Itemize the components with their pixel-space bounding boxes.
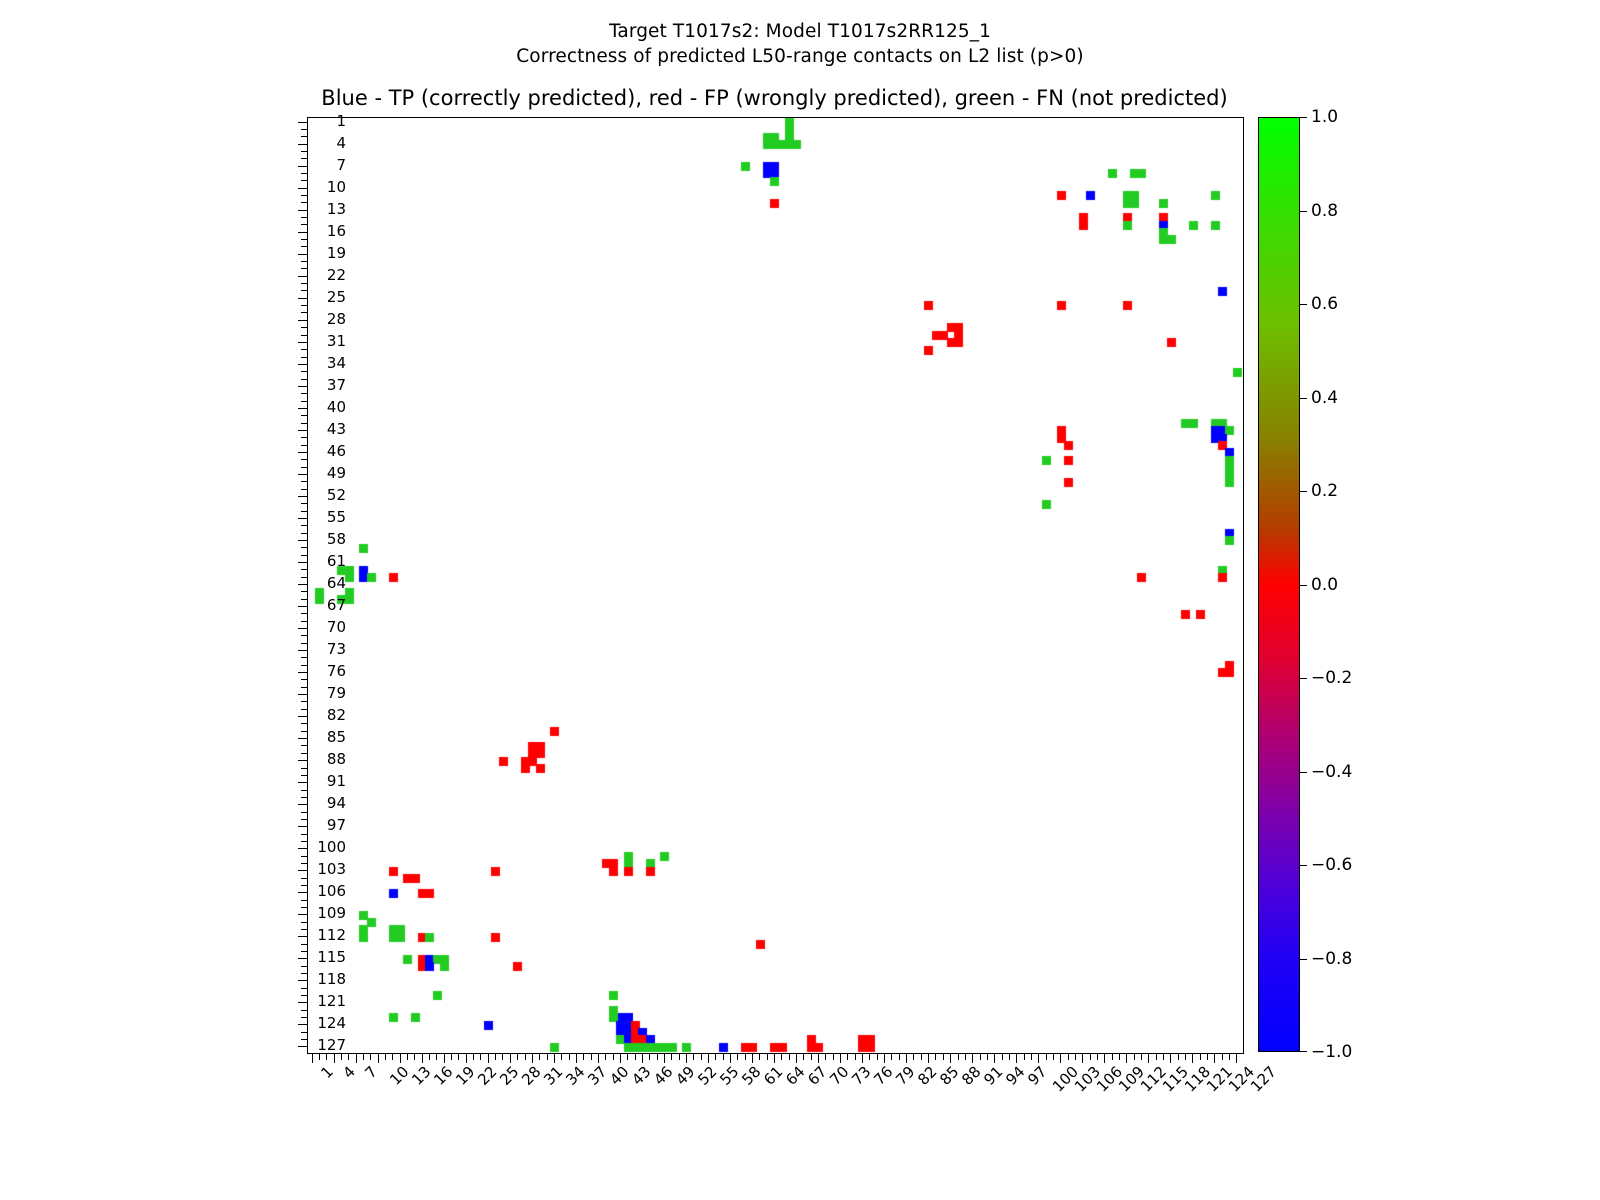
x-tick: [657, 1053, 658, 1060]
x-tick: [1031, 1053, 1032, 1060]
x-tick: [715, 1053, 716, 1060]
contact-map-canvas: [308, 118, 1243, 1053]
colorbar-gradient: [1258, 117, 1300, 1052]
x-tick: [1192, 1053, 1193, 1063]
y-tick: [301, 305, 308, 306]
y-tick: [301, 547, 308, 548]
y-tick: [301, 415, 308, 416]
y-tick: [301, 745, 308, 746]
x-tick: [972, 1053, 973, 1063]
y-tick-label: 73: [286, 642, 346, 657]
x-tick: [635, 1053, 636, 1060]
x-tick: [547, 1053, 548, 1060]
y-tick-label: 61: [286, 554, 346, 569]
x-tick: [1207, 1053, 1208, 1060]
colorbar-tick: [1300, 211, 1307, 212]
x-tick: [605, 1053, 606, 1060]
y-tick: [301, 613, 308, 614]
x-tick: [833, 1053, 834, 1060]
y-tick: [301, 988, 308, 989]
x-tick: [1097, 1053, 1098, 1060]
y-tick-label: 67: [286, 598, 346, 613]
y-tick-label: 28: [286, 312, 346, 327]
x-tick: [598, 1053, 599, 1063]
colorbar-tick-label: −0.2: [1311, 670, 1352, 687]
y-tick: [301, 657, 308, 658]
y-tick: [301, 679, 308, 680]
x-tick: [517, 1053, 518, 1060]
y-tick: [301, 966, 308, 967]
y-tick-label: 88: [286, 752, 346, 767]
y-tick-label: 34: [286, 356, 346, 371]
x-tick: [1134, 1053, 1135, 1060]
y-tick: [301, 790, 308, 791]
y-tick: [301, 1010, 308, 1011]
x-tick: [466, 1053, 467, 1063]
x-tick: [803, 1053, 804, 1060]
x-tick-label: 1: [318, 1064, 335, 1081]
y-tick-label: 112: [286, 928, 346, 943]
x-tick: [1148, 1053, 1149, 1063]
y-tick: [301, 195, 308, 196]
x-tick: [958, 1053, 959, 1060]
y-tick: [301, 591, 308, 592]
x-tick: [525, 1053, 526, 1060]
x-tick: [899, 1053, 900, 1060]
colorbar-tick-label: −0.6: [1311, 857, 1352, 874]
x-tick: [1185, 1053, 1186, 1060]
colorbar-tick: [1300, 117, 1307, 118]
x-tick: [554, 1053, 555, 1063]
x-tick: [1104, 1053, 1105, 1063]
x-tick: [429, 1053, 430, 1060]
y-tick-label: 115: [286, 950, 346, 965]
colorbar-tick-label: −0.8: [1311, 951, 1352, 968]
y-tick-label: 22: [286, 268, 346, 283]
y-tick-label: 79: [286, 686, 346, 701]
x-tick: [1053, 1053, 1054, 1060]
x-tick: [1009, 1053, 1010, 1060]
y-tick-label: 91: [286, 774, 346, 789]
y-tick: [301, 701, 308, 702]
x-tick: [1002, 1053, 1003, 1060]
y-tick: [301, 349, 308, 350]
x-tick: [825, 1053, 826, 1060]
x-tick: [1141, 1053, 1142, 1060]
x-tick: [767, 1053, 768, 1060]
y-tick-label: 25: [286, 290, 346, 305]
x-tick: [576, 1053, 577, 1063]
colorbar-tick-label: 0.0: [1311, 577, 1338, 594]
x-tick: [458, 1053, 459, 1060]
x-tick: [913, 1053, 914, 1060]
x-tick: [385, 1053, 386, 1060]
colorbar-tick: [1300, 865, 1307, 866]
y-tick-label: 82: [286, 708, 346, 723]
y-tick: [301, 812, 308, 813]
x-tick-label: 7: [362, 1064, 379, 1081]
x-tick: [921, 1053, 922, 1060]
x-tick: [1112, 1053, 1113, 1060]
x-tick: [752, 1053, 753, 1063]
x-tick: [943, 1053, 944, 1060]
x-tick: [561, 1053, 562, 1060]
y-tick-label: 13: [286, 202, 346, 217]
y-tick-label: 64: [286, 576, 346, 591]
y-tick: [301, 1032, 308, 1033]
x-tick: [774, 1053, 775, 1063]
x-tick-label: 97: [1026, 1064, 1050, 1088]
x-tick: [451, 1053, 452, 1060]
y-tick-label: 103: [286, 862, 346, 877]
x-tick: [1016, 1053, 1017, 1063]
x-tick: [326, 1053, 327, 1060]
figure-title-block: Target T1017s2: Model T1017s2RR125_1 Cor…: [0, 20, 1600, 70]
x-tick: [1163, 1053, 1164, 1060]
x-tick: [1236, 1053, 1237, 1063]
x-tick: [906, 1053, 907, 1063]
x-tick: [341, 1053, 342, 1060]
x-tick: [480, 1053, 481, 1060]
x-tick: [855, 1053, 856, 1060]
x-tick: [693, 1053, 694, 1060]
x-tick: [759, 1053, 760, 1060]
x-tick: [928, 1053, 929, 1063]
x-tick: [818, 1053, 819, 1063]
y-tick-label: 31: [286, 334, 346, 349]
x-tick: [1046, 1053, 1047, 1060]
y-tick: [301, 173, 308, 174]
colorbar-tick-label: 0.2: [1311, 483, 1338, 500]
y-tick: [301, 327, 308, 328]
y-tick: [301, 371, 308, 372]
x-tick: [488, 1053, 489, 1063]
y-tick: [301, 635, 308, 636]
y-tick-label: 97: [286, 818, 346, 833]
x-tick: [532, 1053, 533, 1063]
x-tick: [1222, 1053, 1223, 1060]
y-tick-label: 106: [286, 884, 346, 899]
x-tick: [473, 1053, 474, 1060]
x-tick: [334, 1053, 335, 1063]
x-tick: [847, 1053, 848, 1060]
x-tick: [1126, 1053, 1127, 1063]
x-tick: [1068, 1053, 1069, 1060]
y-tick-label: 127: [286, 1038, 346, 1053]
y-tick-label: 109: [286, 906, 346, 921]
x-tick: [378, 1053, 379, 1063]
y-tick-label: 16: [286, 224, 346, 239]
colorbar-tick-label: −1.0: [1311, 1044, 1352, 1061]
x-tick-label: 127: [1249, 1064, 1280, 1095]
x-tick: [642, 1053, 643, 1063]
x-tick: [730, 1053, 731, 1063]
x-tick: [495, 1053, 496, 1060]
y-tick: [301, 217, 308, 218]
x-tick: [950, 1053, 951, 1063]
x-tick: [708, 1053, 709, 1063]
x-tick: [539, 1053, 540, 1060]
x-tick: [407, 1053, 408, 1060]
y-tick: [301, 525, 308, 526]
y-tick-label: 4: [286, 136, 346, 151]
colorbar-tick-label: −0.4: [1311, 764, 1352, 781]
colorbar-tick: [1300, 398, 1307, 399]
x-tick: [745, 1053, 746, 1060]
contact-map-plot: [307, 117, 1244, 1054]
y-tick-label: 55: [286, 510, 346, 525]
x-tick: [1229, 1053, 1230, 1060]
figure-title-line-2: Correctness of predicted L50-range conta…: [0, 45, 1600, 70]
x-tick: [348, 1053, 349, 1060]
x-tick: [414, 1053, 415, 1060]
x-tick: [789, 1053, 790, 1060]
x-tick: [1024, 1053, 1025, 1060]
y-tick: [301, 878, 308, 879]
x-tick: [510, 1053, 511, 1063]
colorbar-tick: [1300, 678, 1307, 679]
y-tick: [301, 239, 308, 240]
x-tick: [987, 1053, 988, 1060]
axes-legend-title: Blue - TP (correctly predicted), red - F…: [307, 86, 1242, 110]
x-tick: [1038, 1053, 1039, 1063]
x-tick: [840, 1053, 841, 1063]
colorbar-tick-label: 1.0: [1311, 109, 1338, 126]
y-tick-label: 124: [286, 1016, 346, 1031]
figure-title-line-1: Target T1017s2: Model T1017s2RR125_1: [0, 20, 1600, 45]
x-tick: [422, 1053, 423, 1063]
colorbar-tick: [1300, 585, 1307, 586]
x-tick: [370, 1053, 371, 1060]
y-tick: [301, 261, 308, 262]
x-tick: [811, 1053, 812, 1060]
x-tick: [679, 1053, 680, 1060]
y-tick-label: 43: [286, 422, 346, 437]
x-tick: [1170, 1053, 1171, 1063]
y-tick-label: 58: [286, 532, 346, 547]
colorbar-tick: [1300, 304, 1307, 305]
y-tick: [301, 503, 308, 504]
y-tick-label: 10: [286, 180, 346, 195]
x-tick: [1090, 1053, 1091, 1060]
x-tick: [877, 1053, 878, 1060]
colorbar-tick: [1300, 1051, 1307, 1052]
y-tick-label: 76: [286, 664, 346, 679]
x-tick: [1178, 1053, 1179, 1060]
x-tick: [1082, 1053, 1083, 1063]
y-tick: [301, 723, 308, 724]
x-tick: [965, 1053, 966, 1060]
x-tick: [891, 1053, 892, 1060]
x-tick: [796, 1053, 797, 1063]
x-tick: [1119, 1053, 1120, 1060]
x-tick: [363, 1053, 364, 1060]
x-tick: [723, 1053, 724, 1060]
y-tick-label: 40: [286, 400, 346, 415]
y-tick: [301, 922, 308, 923]
x-tick: [620, 1053, 621, 1063]
y-tick: [301, 129, 308, 130]
y-tick: [301, 900, 308, 901]
x-tick: [869, 1053, 870, 1060]
y-tick-label: 7: [286, 158, 346, 173]
x-tick: [701, 1053, 702, 1060]
x-tick: [994, 1053, 995, 1063]
y-tick: [301, 481, 308, 482]
x-tick: [1200, 1053, 1201, 1060]
x-tick: [1214, 1053, 1215, 1063]
x-tick-label: 4: [340, 1064, 357, 1081]
x-tick: [884, 1053, 885, 1063]
x-tick: [686, 1053, 687, 1063]
x-tick: [392, 1053, 393, 1060]
y-tick-label: 37: [286, 378, 346, 393]
x-tick: [664, 1053, 665, 1063]
y-tick: [301, 944, 308, 945]
y-tick: [301, 283, 308, 284]
y-tick-label: 19: [286, 246, 346, 261]
x-tick: [502, 1053, 503, 1060]
y-tick: [301, 569, 308, 570]
x-tick: [1060, 1053, 1061, 1063]
y-tick: [301, 834, 308, 835]
y-tick-label: 1: [286, 114, 346, 129]
y-tick-label: 70: [286, 620, 346, 635]
y-tick-label: 46: [286, 444, 346, 459]
y-tick-label: 118: [286, 972, 346, 987]
x-tick: [737, 1053, 738, 1060]
x-tick: [400, 1053, 401, 1063]
y-tick: [301, 768, 308, 769]
x-tick: [312, 1053, 313, 1063]
x-tick: [1156, 1053, 1157, 1060]
x-tick: [613, 1053, 614, 1060]
y-tick-label: 100: [286, 840, 346, 855]
x-tick: [1075, 1053, 1076, 1060]
x-tick: [583, 1053, 584, 1060]
y-tick: [301, 393, 308, 394]
y-tick: [301, 459, 308, 460]
y-tick: [301, 856, 308, 857]
x-tick: [980, 1053, 981, 1060]
x-tick: [627, 1053, 628, 1060]
x-tick: [862, 1053, 863, 1063]
y-tick-label: 94: [286, 796, 346, 811]
colorbar-tick: [1300, 772, 1307, 773]
colorbar-tick-label: 0.4: [1311, 390, 1338, 407]
x-tick: [436, 1053, 437, 1060]
x-tick: [591, 1053, 592, 1060]
y-tick: [301, 151, 308, 152]
y-tick-label: 121: [286, 994, 346, 1009]
x-tick: [356, 1053, 357, 1063]
y-tick-label: 85: [286, 730, 346, 745]
colorbar-tick: [1300, 959, 1307, 960]
colorbar: 1.00.80.60.40.20.0−0.2−0.4−0.6−0.8−1.0: [1258, 117, 1300, 1052]
x-tick: [569, 1053, 570, 1060]
x-tick: [444, 1053, 445, 1063]
y-tick-label: 52: [286, 488, 346, 503]
colorbar-tick: [1300, 491, 1307, 492]
y-tick-label: 49: [286, 466, 346, 481]
x-tick: [935, 1053, 936, 1060]
x-tick: [781, 1053, 782, 1060]
x-tick: [671, 1053, 672, 1060]
y-tick: [301, 437, 308, 438]
x-tick: [319, 1053, 320, 1060]
colorbar-tick-label: 0.8: [1311, 203, 1338, 220]
x-tick: [649, 1053, 650, 1060]
colorbar-tick-label: 0.6: [1311, 296, 1338, 313]
